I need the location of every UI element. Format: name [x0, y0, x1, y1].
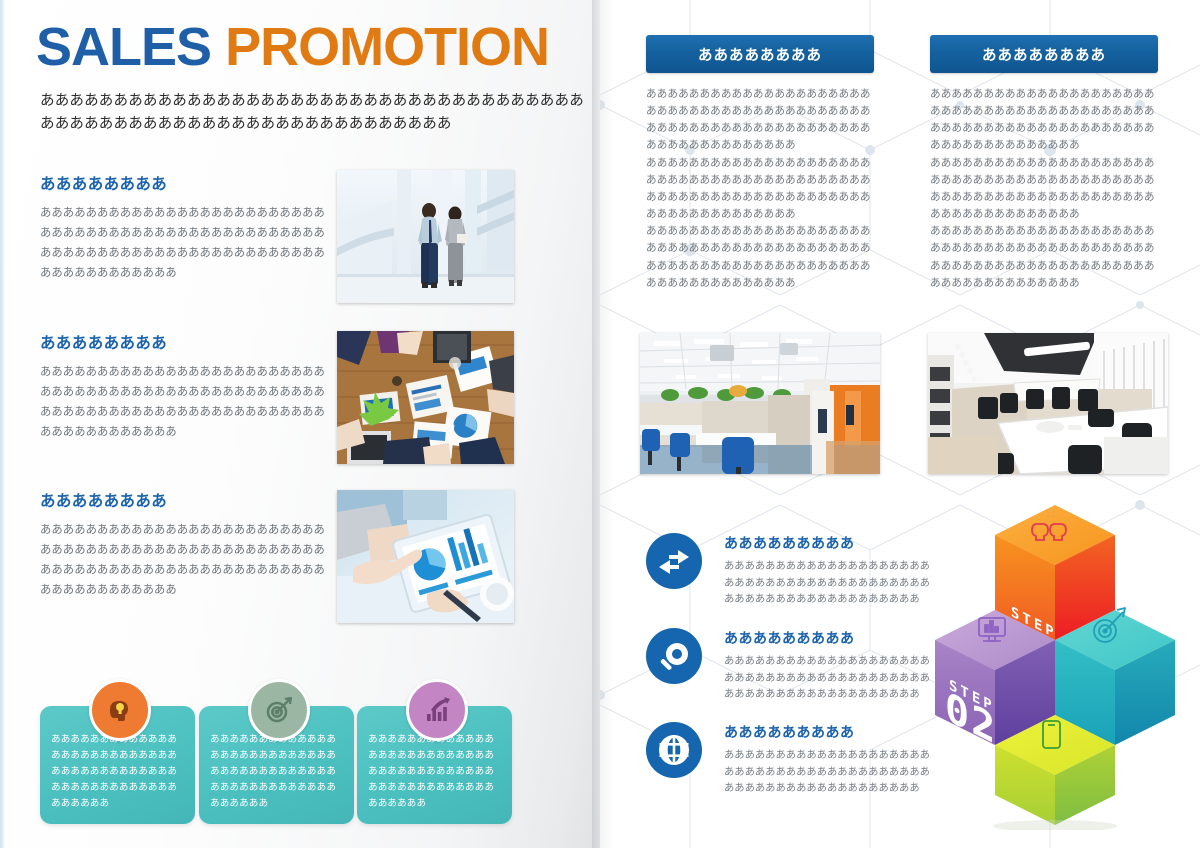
feature-3-body: ああああああああああああああああああああああああああああああああああああああああ… — [724, 748, 931, 798]
right-panel-1-header: ああああああああ — [646, 35, 874, 73]
right-panel-2-paragraph-1: ああああああああああああああああああああああああああああああああああああああああ… — [930, 86, 1155, 155]
teal-card-1-body: ああああああああああああああああああああああああああああああああああああああああ… — [51, 732, 185, 813]
right-panel-2-paragraph-3: ああああああああああああああああああああああああああああああああああああああああ… — [930, 223, 1155, 292]
photo-team-meeting-overhead — [337, 331, 514, 464]
feature-item-3[interactable]: あああああああああ ああああああああああああああああああああああああああああああ… — [646, 722, 931, 798]
page-title: SALES PROMOTION — [36, 20, 549, 74]
right-panel-1-body: ああああああああああああああああああああああああああああああああああああああああ… — [646, 86, 871, 292]
right-panel-2-body: ああああああああああああああああああああああああああああああああああああああああ… — [930, 86, 1155, 292]
right-panel-2-header-label: ああああああああ — [982, 44, 1106, 65]
left-section-2: ああああああああ あああああああああああああああああああああああああああああああ… — [40, 331, 328, 442]
feature-1-heading: あああああああああ — [724, 533, 931, 553]
brochure-page: SALES PROMOTION ああああああああああああああああああああああああ… — [0, 0, 1200, 848]
growth-chart-arrow-icon — [406, 679, 468, 741]
left-section-1: ああああああああ あああああああああああああああああああああああああああああああ… — [40, 172, 328, 283]
photo-office-lobby-walking — [337, 170, 514, 303]
left-section-2-body: ああああああああああああああああああああああああああああああああああああああああ… — [40, 362, 328, 442]
target-dart-icon — [248, 679, 310, 741]
left-section-3-heading: ああああああああ — [40, 489, 328, 511]
left-section-1-heading: ああああああああ — [40, 172, 328, 194]
right-panel-2-paragraph-2: ああああああああああああああああああああああああああああああああああああああああ… — [930, 155, 1155, 224]
right-panel-1-paragraph-2: ああああああああああああああああああああああああああああああああああああああああ… — [646, 155, 871, 224]
title-word-sales: SALES — [36, 17, 211, 77]
step-cubes-infographic: STEP 01 STEP — [935, 500, 1175, 830]
feature-1-body: ああああああああああああああああああああああああああああああああああああああああ… — [724, 559, 931, 609]
magnifier-icon — [646, 628, 702, 684]
photo-open-plan-office-cubicles — [640, 333, 880, 474]
left-section-3: ああああああああ あああああああああああああああああああああああああああああああ… — [40, 489, 328, 600]
teal-card-2-body: ああああああああああああああああああああああああああああああああああああああああ… — [210, 732, 344, 813]
feature-2-body: ああああああああああああああああああああああああああああああああああああああああ… — [724, 654, 931, 704]
photo-tablet-analytics — [337, 490, 514, 623]
right-panel-2-header: ああああああああ — [930, 35, 1158, 73]
exchange-arrows-icon — [646, 533, 702, 589]
feature-2-heading: あああああああああ — [724, 628, 931, 648]
teal-card-3-body: ああああああああああああああああああああああああああああああああああああああああ… — [368, 732, 502, 813]
left-section-1-body: ああああああああああああああああああああああああああああああああああああああああ… — [40, 203, 328, 283]
feature-3-heading: あああああああああ — [724, 722, 931, 742]
intro-paragraph: ああああああああああああああああああああああああああああああああああああああああ… — [40, 90, 588, 137]
right-panel-1-header-label: ああああああああ — [698, 44, 822, 65]
left-section-3-body: ああああああああああああああああああああああああああああああああああああああああ… — [40, 520, 328, 600]
right-panel-1-paragraph-3: ああああああああああああああああああああああああああああああああああああああああ… — [646, 223, 871, 292]
left-section-2-heading: ああああああああ — [40, 331, 328, 353]
feature-item-2[interactable]: あああああああああ ああああああああああああああああああああああああああああああ… — [646, 628, 931, 704]
title-word-promotion: PROMOTION — [225, 17, 549, 77]
feature-item-1[interactable]: あああああああああ ああああああああああああああああああああああああああああああ… — [646, 533, 931, 609]
right-panel-1-paragraph-1: ああああああああああああああああああああああああああああああああああああああああ… — [646, 86, 871, 155]
photo-white-office-desks — [928, 333, 1168, 474]
head-lightbulb-icon — [89, 679, 151, 741]
globe-icon — [646, 722, 702, 778]
